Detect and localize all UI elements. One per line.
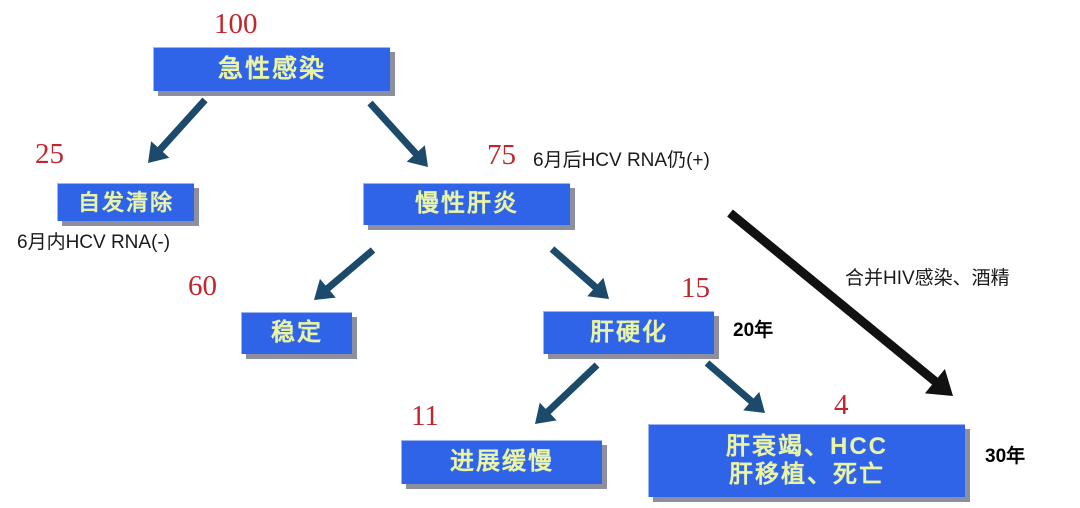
- node-label: 慢性肝炎: [364, 190, 570, 218]
- number-stable: 60: [188, 272, 217, 301]
- annotation-30-years: 30年: [985, 447, 1025, 466]
- diagram-canvas: 急性感染 自发清除 慢性肝炎 稳定 肝硬化 进展缓慢 肝衰竭、HCC肝移植、死亡…: [0, 0, 1080, 508]
- annotation-20-years: 20年: [733, 321, 773, 340]
- node-end-stage-outcomes[interactable]: 肝衰竭、HCC肝移植、死亡: [648, 424, 965, 497]
- node-label: 急性感染: [154, 55, 390, 85]
- node-cirrhosis[interactable]: 肝硬化: [543, 311, 714, 354]
- node-slow-progression[interactable]: 进展缓慢: [401, 440, 602, 484]
- arrow-acute-to-chronic: [370, 103, 428, 167]
- number-spontaneous-clearance: 25: [35, 140, 64, 169]
- node-chronic-hepatitis[interactable]: 慢性肝炎: [363, 183, 570, 225]
- number-acute-infection: 100: [214, 10, 258, 39]
- node-label: 进展缓慢: [402, 448, 602, 476]
- arrow-chronic-to-cirrhosis: [552, 249, 609, 299]
- node-spontaneous-clearance[interactable]: 自发清除: [57, 183, 194, 221]
- number-slow-progression: 11: [411, 402, 439, 431]
- node-label: 肝硬化: [544, 319, 714, 347]
- annotation-cofactors: 合并HIV感染、酒精: [845, 268, 1010, 291]
- node-label: 肝衰竭、HCC肝移植、死亡: [649, 433, 965, 490]
- arrow-cirrhosis-to-end: [707, 363, 765, 413]
- arrow-acute-to-clearance: [148, 100, 205, 163]
- number-chronic-hepatitis: 75: [487, 141, 516, 170]
- arrow-chronic-to-stable: [314, 250, 373, 300]
- node-acute-infection[interactable]: 急性感染: [153, 47, 390, 91]
- annotation-rna-negative: 6月内HCV RNA(-): [17, 232, 170, 255]
- node-label: 自发清除: [58, 190, 194, 216]
- arrow-cirrhosis-to-slow: [535, 365, 597, 424]
- arrow-chronic-to-end-black: [730, 213, 953, 396]
- node-stable[interactable]: 稳定: [241, 312, 352, 354]
- number-cirrhosis: 15: [681, 274, 710, 303]
- node-label: 稳定: [242, 319, 352, 347]
- number-end-stage: 4: [834, 391, 849, 420]
- annotation-rna-positive: 6月后HCV RNA仍(+): [533, 150, 710, 173]
